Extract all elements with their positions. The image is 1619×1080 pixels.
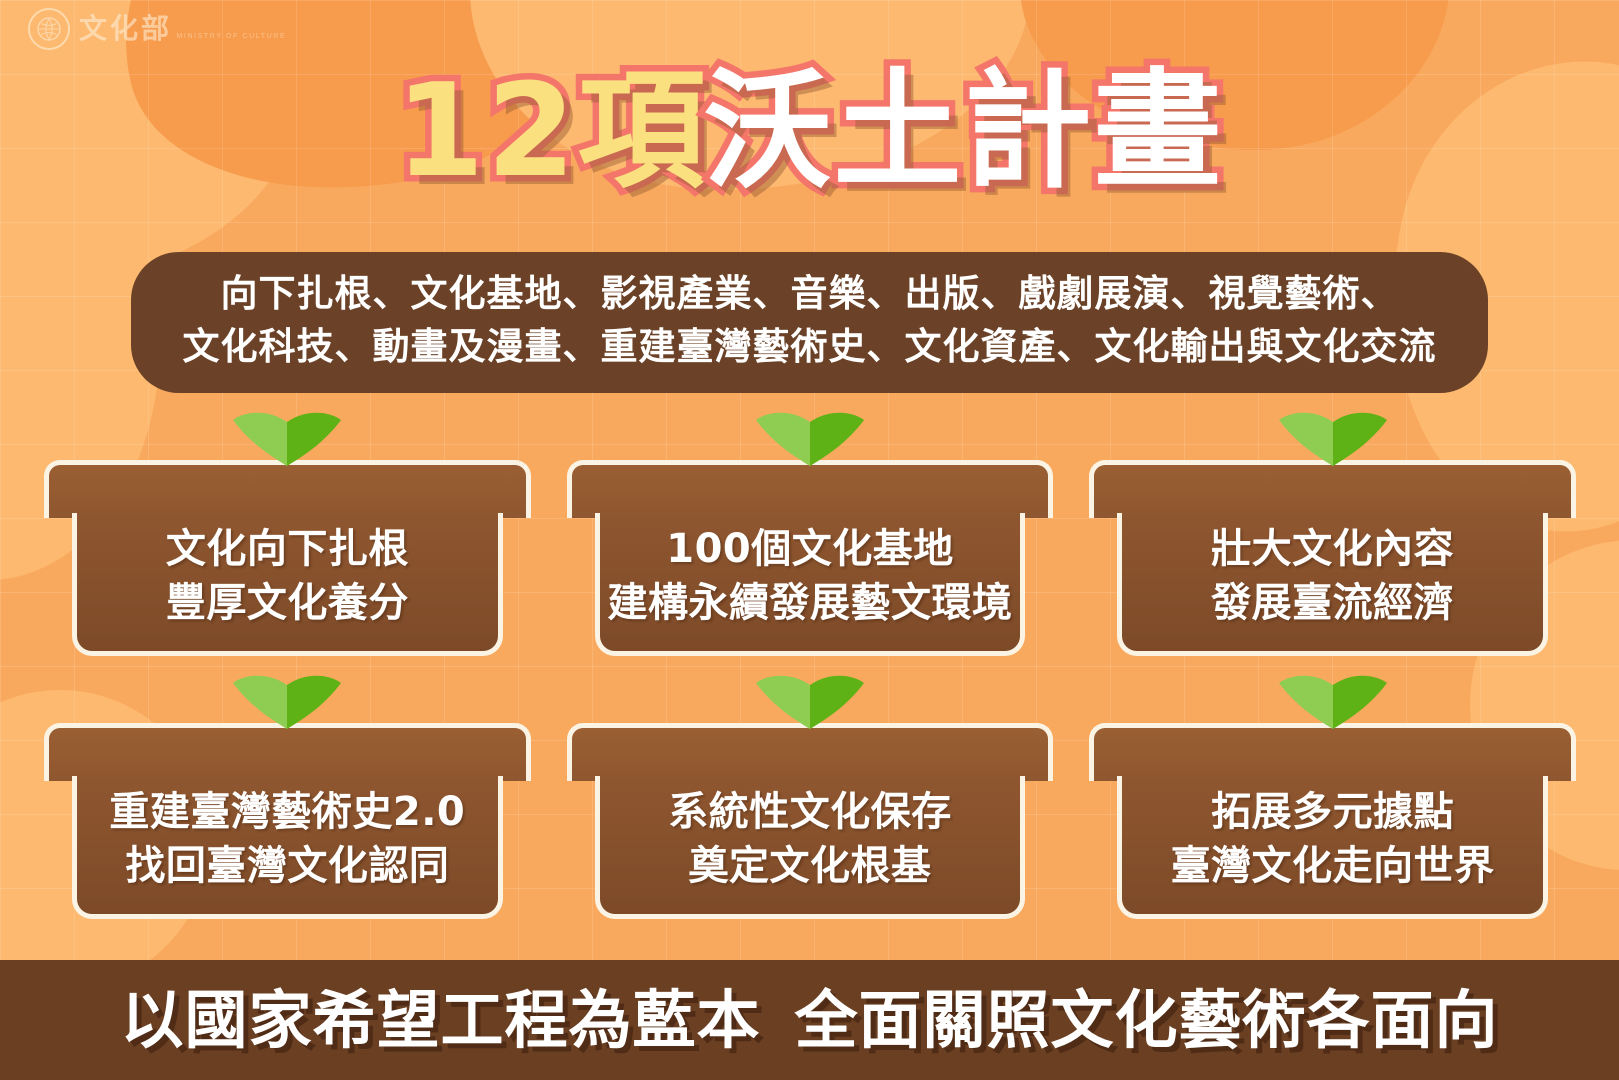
sprout-icon (227, 400, 347, 468)
pot-rim (1089, 460, 1576, 518)
pot-body: 系統性文化保存 奠定文化根基 (595, 776, 1026, 919)
pot-shape: 重建臺灣藝術史2.0 找回臺灣文化認同 (44, 723, 531, 919)
pot-body: 壯大文化內容 發展臺流經濟 (1117, 513, 1548, 656)
pot-shape: 文化向下扎根 豐厚文化養分 (44, 460, 531, 656)
pot-text-line-2: 找回臺灣文化認同 (125, 840, 449, 894)
goal-pot-item: 100個文化基地 建構永續發展藝文環境 (567, 398, 1054, 656)
ministry-seal-icon (28, 8, 70, 50)
logo-chinese-name: 文化部 (79, 12, 172, 45)
pot-rim (567, 460, 1054, 518)
sprout-icon (227, 663, 347, 731)
pot-text-line-1: 壯大文化內容 (1211, 523, 1454, 577)
logo-text-block: 文化部 MINISTRY OF CULTURE (79, 15, 286, 43)
footer-banner: 以國家希望工程為藍本 全面關照文化藝術各面向 (0, 960, 1619, 1080)
pot-shape: 拓展多元據點 臺灣文化走向世界 (1089, 723, 1576, 919)
subtitle-line-2: 文化科技、動畫及漫畫、重建臺灣藝術史、文化資產、文化輸出與文化交流 (161, 321, 1458, 374)
infographic-poster: 文化部 MINISTRY OF CULTURE 12項沃土計畫 向下扎根、文化基… (0, 0, 1619, 1080)
pot-text-line-2: 豐厚文化養分 (166, 577, 409, 631)
pot-shape: 系統性文化保存 奠定文化根基 (567, 723, 1054, 919)
pot-shape: 100個文化基地 建構永續發展藝文環境 (567, 460, 1054, 656)
pot-text-line-2: 建構永續發展藝文環境 (608, 577, 1013, 631)
title-part-count: 12項 (395, 52, 707, 212)
pot-text-line-1: 拓展多元據點 (1211, 786, 1454, 840)
pot-text-line-1: 100個文化基地 (666, 523, 954, 577)
goal-pot-grid: 文化向下扎根 豐厚文化養分 100個文化基地 建構永續發展藝文環境 (44, 398, 1576, 919)
goal-pot-item: 文化向下扎根 豐厚文化養分 (44, 398, 531, 656)
goal-pot-item: 壯大文化內容 發展臺流經濟 (1089, 398, 1576, 656)
subtitle-line-1: 向下扎根、文化基地、影視產業、音樂、出版、戲劇展演、視覺藝術、 (161, 268, 1458, 321)
goal-pot-item: 系統性文化保存 奠定文化根基 (567, 661, 1054, 919)
pot-text-line-2: 奠定文化根基 (688, 840, 931, 894)
pot-rim (44, 723, 531, 781)
footer-text-left: 以國家希望工程為藍本 (121, 989, 761, 1052)
pot-body: 重建臺灣藝術史2.0 找回臺灣文化認同 (72, 776, 503, 919)
pot-text-line-1: 文化向下扎根 (166, 523, 409, 577)
pot-text-line-1: 重建臺灣藝術史2.0 (109, 786, 465, 840)
pot-body: 100個文化基地 建構永續發展藝文環境 (595, 513, 1026, 656)
ministry-logo: 文化部 MINISTRY OF CULTURE (28, 8, 286, 50)
pot-text-line-2: 發展臺流經濟 (1211, 577, 1454, 631)
logo-english-name: MINISTRY OF CULTURE (176, 33, 286, 40)
footer-text-right: 全面關照文化藝術各面向 (795, 989, 1499, 1052)
pot-text-line-1: 系統性文化保存 (668, 786, 952, 840)
pot-rim (567, 723, 1054, 781)
pot-shape: 壯大文化內容 發展臺流經濟 (1089, 460, 1576, 656)
title-part-plan: 沃土計畫 (704, 52, 1224, 212)
pot-rim (44, 460, 531, 518)
sprout-icon (750, 663, 870, 731)
page-title: 12項沃土計畫 (0, 52, 1619, 212)
sprout-icon (750, 400, 870, 468)
pot-body: 文化向下扎根 豐厚文化養分 (72, 513, 503, 656)
pot-rim (1089, 723, 1576, 781)
goal-pot-item: 重建臺灣藝術史2.0 找回臺灣文化認同 (44, 661, 531, 919)
pot-body: 拓展多元據點 臺灣文化走向世界 (1117, 776, 1548, 919)
sprout-icon (1273, 400, 1393, 468)
subtitle-banner: 向下扎根、文化基地、影視產業、音樂、出版、戲劇展演、視覺藝術、 文化科技、動畫及… (131, 252, 1488, 393)
pot-text-line-2: 臺灣文化走向世界 (1171, 840, 1495, 894)
goal-pot-item: 拓展多元據點 臺灣文化走向世界 (1089, 661, 1576, 919)
sprout-icon (1273, 663, 1393, 731)
